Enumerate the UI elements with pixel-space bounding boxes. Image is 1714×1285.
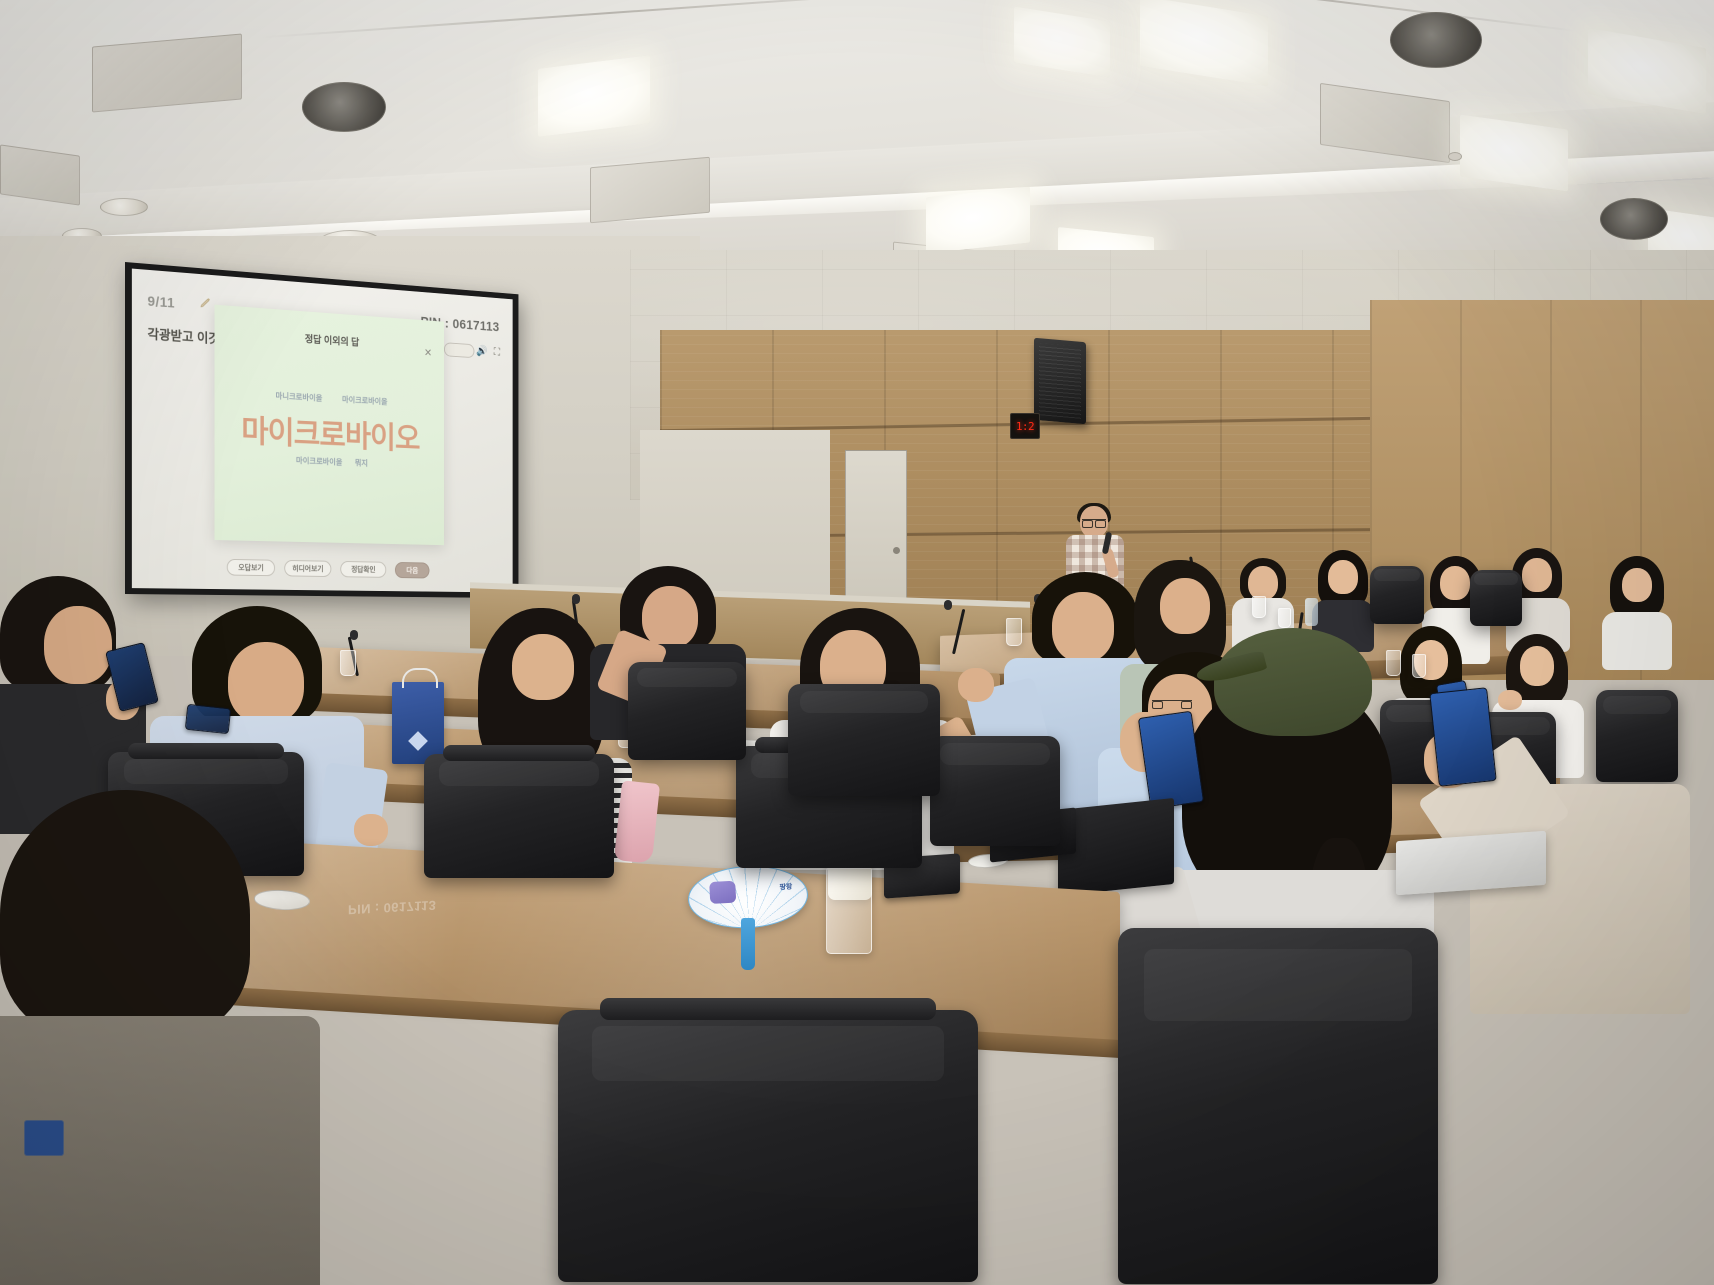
quiz-button-hide[interactable]: 히디어보기 [284, 560, 331, 577]
chair[interactable] [1118, 928, 1438, 1284]
microphone-head-icon [350, 630, 358, 640]
glass-cup [1386, 650, 1401, 676]
fan-artwork [709, 881, 736, 904]
chair-headrest [128, 743, 285, 759]
sub-answer: 마니크로바이올 [276, 390, 323, 403]
glass-cup [1006, 618, 1022, 646]
ceiling-vent [92, 33, 242, 112]
foot-answer: 뭐지 [355, 458, 368, 469]
microphone-head-icon [572, 594, 580, 604]
quiz-button-check-answer[interactable]: 정답확인 [340, 561, 386, 578]
glass-cup[interactable] [826, 868, 872, 954]
modal-title: 정답 이외의 답 [215, 324, 444, 354]
chair[interactable] [558, 1010, 978, 1282]
ceiling-seam [261, 0, 959, 38]
projection-screen: 9/11 PIN : 0617113 각광받고 이것은?( 🔊 ⛶ 정답 이외의… [125, 262, 518, 598]
glass-cup [1412, 654, 1426, 678]
ceiling-downlight [1390, 12, 1482, 68]
chair[interactable] [1596, 690, 1678, 782]
smartphone[interactable] [1429, 687, 1497, 787]
ceiling-downlight [302, 82, 386, 132]
answers-modal: 정답 이외의 답 ✕ 마니크로바이올 마이크로바이올 마이크로바이오 마이크로바… [215, 305, 444, 546]
glass-cup [1278, 608, 1291, 628]
pink-cloth [614, 780, 660, 864]
chair[interactable] [930, 736, 1060, 846]
quiz-progress: 9/11 [147, 293, 175, 311]
ceiling-panel-light [538, 55, 650, 137]
modal-main-answer: 마이크로바이오 [215, 405, 444, 460]
chair-headrest [443, 745, 595, 761]
chair[interactable] [788, 684, 940, 796]
glass-cup [340, 650, 356, 676]
water-bottle [1305, 598, 1318, 626]
smartphone[interactable] [185, 704, 231, 734]
foot-answer: 마이크로바이올 [296, 455, 342, 467]
wall-speaker-icon [1034, 338, 1086, 425]
ceiling-panel-light [926, 187, 1030, 254]
door-knob-icon [893, 547, 900, 554]
quiz-button-row: 오답보기 히디어보기 정답확인 다음 [132, 557, 513, 580]
ceiling-downlight [1600, 198, 1668, 240]
sub-answer: 마이크로바이올 [342, 394, 387, 407]
pencil-icon[interactable] [200, 296, 212, 315]
chair[interactable] [628, 662, 746, 760]
chair[interactable] [1370, 566, 1424, 624]
glass-cup [1252, 596, 1266, 618]
microphone-head-icon [944, 600, 952, 610]
conference-tote-bag [392, 682, 444, 764]
lecture-hall-photo: 1:2 9/11 PIN : 0617113 각광받고 이것은?( 🔊 ⛶ 정답… [0, 0, 1714, 1285]
fan-handle[interactable] [741, 918, 755, 970]
smoke-detector-icon [1448, 152, 1462, 161]
chair[interactable] [424, 754, 614, 878]
fan-text: 팡팡 [779, 881, 792, 892]
chair[interactable] [1470, 570, 1522, 626]
eyeglasses-icon [1082, 519, 1106, 526]
lanyard-badge [24, 1120, 64, 1156]
hand [1498, 690, 1522, 710]
ceiling-downlight [100, 198, 148, 216]
tote-logo [408, 731, 428, 751]
close-icon[interactable]: ✕ [424, 346, 432, 359]
ceiling-vent [590, 157, 710, 223]
led-clock: 1:2 [1010, 413, 1040, 439]
projected-slide: 9/11 PIN : 0617113 각광받고 이것은?( 🔊 ⛶ 정답 이외의… [132, 269, 513, 593]
volume-icon[interactable]: 🔊 [476, 344, 488, 359]
quiz-button-wrong-answers[interactable]: 오답보기 [227, 559, 275, 576]
quiz-control-pill[interactable] [444, 342, 474, 358]
laptop[interactable] [1396, 831, 1546, 895]
chair-headrest [600, 998, 936, 1020]
expand-icon[interactable]: ⛶ [491, 345, 503, 360]
quiz-button-next[interactable]: 다음 [395, 562, 430, 579]
